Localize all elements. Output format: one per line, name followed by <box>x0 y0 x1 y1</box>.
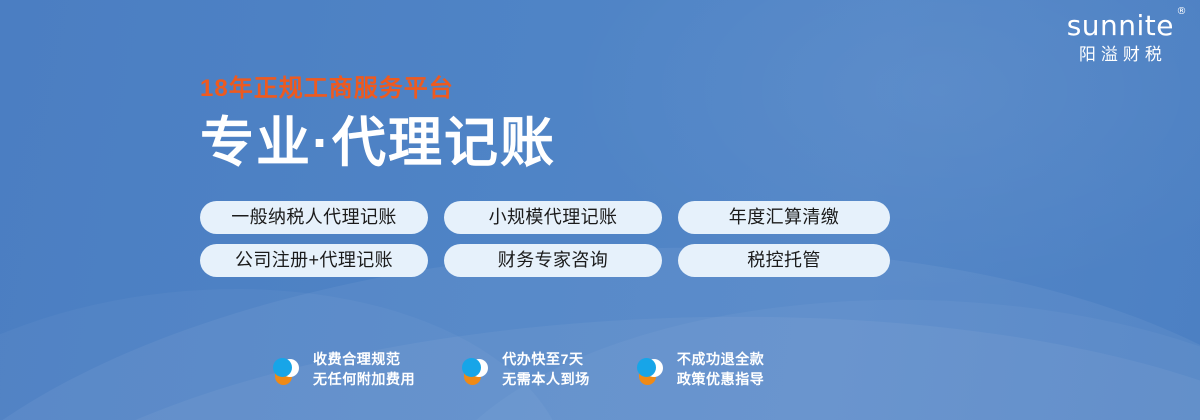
feature-line-1: 不成功退全款 <box>677 350 765 369</box>
page-title: 专业·代理记账 <box>200 112 556 174</box>
feature-line-2: 政策优惠指导 <box>677 370 765 389</box>
service-pill-grid: 一般纳税人代理记账 小规模代理记账 年度汇算清缴 公司注册+代理记账 财务专家咨… <box>200 201 890 287</box>
feature-strip: 收费合理规范 无任何附加费用 代办快至7天 无需本人到场 不成功退全款 <box>272 350 764 389</box>
promo-banner: sunnite ® 阳溢财税 18年正规工商服务平台 专业·代理记账 一般纳税人… <box>0 0 1200 420</box>
dual-circle-icon <box>272 354 302 386</box>
dual-circle-icon-blue-circle <box>462 358 481 377</box>
service-pill[interactable]: 小规模代理记账 <box>444 201 662 234</box>
logo-chinese-name: 阳溢财税 <box>1067 45 1174 65</box>
registered-trademark-icon: ® <box>1177 7 1188 17</box>
pill-row: 一般纳税人代理记账 小规模代理记账 年度汇算清缴 <box>200 201 890 234</box>
feature-item: 代办快至7天 无需本人到场 <box>461 350 590 389</box>
logo-wordmark: sunnite ® <box>1067 10 1174 42</box>
tagline: 18年正规工商服务平台 <box>200 74 556 104</box>
dual-circle-icon <box>461 354 491 386</box>
service-pill[interactable]: 一般纳税人代理记账 <box>200 201 428 234</box>
service-pill[interactable]: 年度汇算清缴 <box>678 201 890 234</box>
feature-item: 收费合理规范 无任何附加费用 <box>272 350 415 389</box>
feature-text: 代办快至7天 无需本人到场 <box>502 350 590 389</box>
brand-logo[interactable]: sunnite ® 阳溢财税 <box>1067 10 1174 65</box>
logo-wordmark-text: sunnite <box>1067 9 1174 42</box>
dual-circle-icon-blue-circle <box>273 358 292 377</box>
pill-row: 公司注册+代理记账 财务专家咨询 税控托管 <box>200 244 890 277</box>
feature-line-1: 收费合理规范 <box>313 350 415 369</box>
service-pill[interactable]: 税控托管 <box>678 244 890 277</box>
service-pill[interactable]: 财务专家咨询 <box>444 244 662 277</box>
headline-block: 18年正规工商服务平台 专业·代理记账 <box>200 74 556 174</box>
feature-item: 不成功退全款 政策优惠指导 <box>636 350 765 389</box>
feature-text: 不成功退全款 政策优惠指导 <box>677 350 765 389</box>
dual-circle-icon-blue-circle <box>637 358 656 377</box>
feature-line-2: 无需本人到场 <box>502 370 590 389</box>
service-pill[interactable]: 公司注册+代理记账 <box>200 244 428 277</box>
feature-text: 收费合理规范 无任何附加费用 <box>313 350 415 389</box>
dual-circle-icon <box>636 354 666 386</box>
feature-line-2: 无任何附加费用 <box>313 370 415 389</box>
feature-line-1: 代办快至7天 <box>502 350 590 369</box>
